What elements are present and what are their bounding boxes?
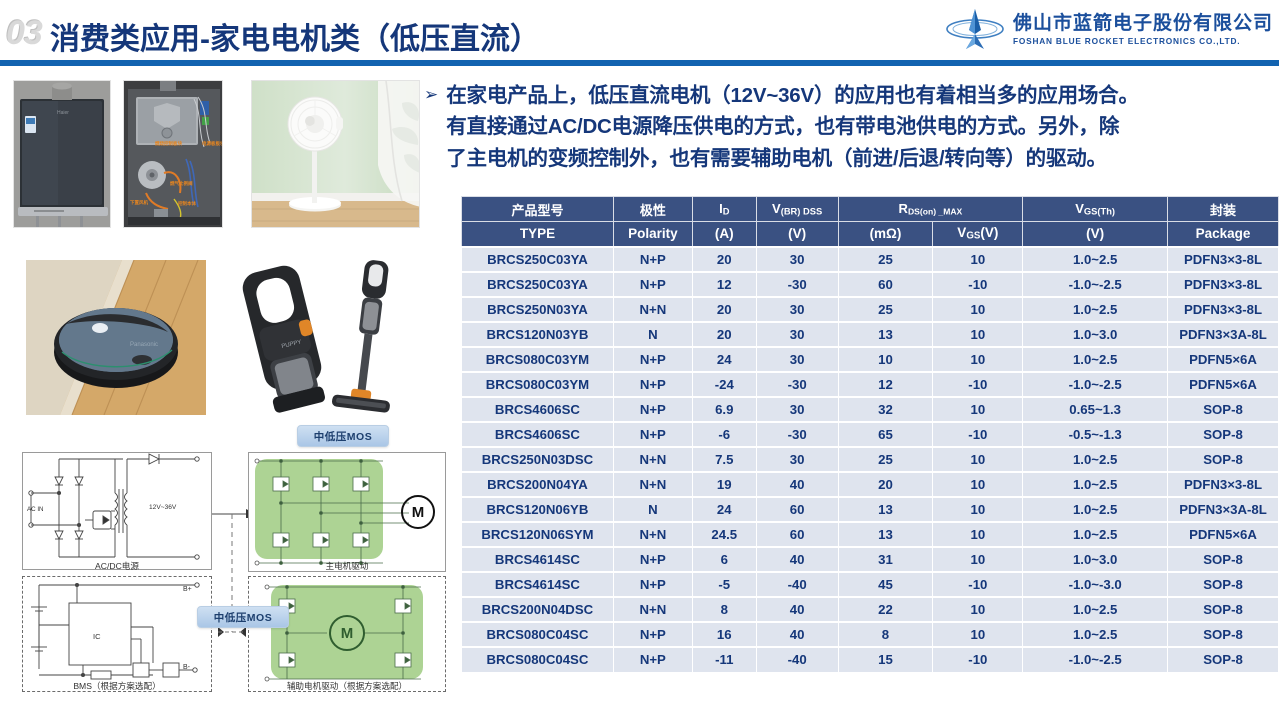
ic-label: IC [93, 632, 101, 641]
table-cell: 6.9 [692, 397, 756, 422]
table-cell: 45 [838, 572, 933, 597]
table-cell: 15 [838, 647, 933, 672]
table-body: BRCS250C03YAN+P203025101.0~2.5PDFN3×3-8L… [462, 247, 1279, 672]
table-cell: BRCS120N06SYM [462, 522, 614, 547]
table-row: BRCS080C04SCN+P16408101.0~2.5SOP-8 [462, 622, 1279, 647]
bullet-line-1: 在家电产品上，低压直流电机（12V~36V）的应用也有着相当多的应用场合。 [446, 80, 1139, 111]
svg-text:12V~36V: 12V~36V [149, 504, 177, 511]
table-cell: N+P [613, 347, 692, 372]
table-cell: 20 [692, 297, 756, 322]
table-row: BRCS120N06SYMN+N24.56013101.0~2.5PDFN5×6… [462, 522, 1279, 547]
table-cell: 1.0~3.0 [1023, 322, 1168, 347]
table-cell: 32 [838, 397, 933, 422]
table-cell: 13 [838, 522, 933, 547]
table-cell: 10 [933, 322, 1023, 347]
svg-text:燃烧控制板块: 燃烧控制板块 [155, 140, 182, 147]
table-cell: 65 [838, 422, 933, 447]
table-cell: N+P [613, 422, 692, 447]
table-cell: -1.0~-2.5 [1023, 372, 1168, 397]
table-row: BRCS4614SCN+P64031101.0~3.0SOP-8 [462, 547, 1279, 572]
section-number: 03 [6, 14, 42, 53]
table-cell: 10 [933, 622, 1023, 647]
main-motor-symbol: M [401, 495, 435, 529]
table-cell: SOP-8 [1168, 597, 1279, 622]
table-cell: 30 [756, 447, 838, 472]
table-cell: 40 [756, 597, 838, 622]
table-cell: 1.0~3.0 [1023, 547, 1168, 572]
table-cell: N+P [613, 572, 692, 597]
table-cell: N+P [613, 272, 692, 297]
table-cell: 24.5 [692, 522, 756, 547]
table-cell: -1.0~-2.5 [1023, 647, 1168, 672]
bms-box: IC B+ B- [22, 576, 212, 692]
table-cell: PDFN3×3-8L [1168, 297, 1279, 322]
table-cell: PDFN3×3A-8L [1168, 497, 1279, 522]
table-cell: 30 [756, 297, 838, 322]
table-cell: 10 [933, 347, 1023, 372]
table-cell: 12 [838, 372, 933, 397]
table-cell: N [613, 497, 692, 522]
rocket-logo-icon [945, 8, 1005, 52]
table-cell: 8 [838, 622, 933, 647]
table-cell: 10 [838, 347, 933, 372]
table-cell: 10 [933, 247, 1023, 272]
table-cell: -10 [933, 647, 1023, 672]
table-cell: BRCS250C03YA [462, 247, 614, 272]
table-cell: BRCS4606SC [462, 422, 614, 447]
logo-cn-name: 佛山市蓝箭电子股份有限公司 [1013, 14, 1273, 34]
table-cell: BRCS250N03YA [462, 297, 614, 322]
table-cell: 20 [692, 247, 756, 272]
table-cell: -11 [692, 647, 756, 672]
table-cell: 40 [756, 472, 838, 497]
table-cell: 24 [692, 347, 756, 372]
photo-robot-vacuum: Panasonic [26, 260, 206, 415]
table-cell: BRCS080C04SC [462, 622, 614, 647]
table-cell: BRCS200N04YA [462, 472, 614, 497]
table-cell: BRCS4614SC [462, 547, 614, 572]
table-cell: 13 [838, 322, 933, 347]
table-cell: 10 [933, 397, 1023, 422]
table-cell: PDFN3×3-8L [1168, 247, 1279, 272]
table-row: BRCS080C04SCN+P-11-4015-10-1.0~-2.5SOP-8 [462, 647, 1279, 672]
table-cell: -1.0~-3.0 [1023, 572, 1168, 597]
table-cell: N+P [613, 397, 692, 422]
page-title: 消费类应用-家电电机类（低压直流） [50, 14, 540, 58]
table-cell: 1.0~2.5 [1023, 522, 1168, 547]
table-row: BRCS250C03YAN+P12-3060-10-1.0~-2.5PDFN3×… [462, 272, 1279, 297]
table-cell: 10 [933, 297, 1023, 322]
table-cell: SOP-8 [1168, 447, 1279, 472]
table-cell: -10 [933, 422, 1023, 447]
logo-en-name: FOSHAN BLUE ROCKET ELECTRONICS CO.,LTD. [1013, 36, 1273, 46]
application-block-diagram: AC IN 12V~36V AC/DC电源 [12, 430, 452, 715]
table-cell: N [613, 322, 692, 347]
table-cell: N+N [613, 597, 692, 622]
table-cell: BRCS200N04DSC [462, 597, 614, 622]
table-cell: 10 [933, 547, 1023, 572]
company-logo: 佛山市蓝箭电子股份有限公司 FOSHAN BLUE ROCKET ELECTRO… [945, 6, 1273, 54]
table-cell: 25 [838, 247, 933, 272]
table-cell: 60 [756, 522, 838, 547]
table-cell: -24 [692, 372, 756, 397]
table-cell: 1.0~2.5 [1023, 597, 1168, 622]
table-cell: 1.0~2.5 [1023, 472, 1168, 497]
table-cell: N+N [613, 297, 692, 322]
table-cell: 30 [756, 397, 838, 422]
table-cell: N+P [613, 547, 692, 572]
table-cell: N+P [613, 647, 692, 672]
aux-motor-symbol: M [329, 615, 365, 651]
table-cell: 40 [756, 547, 838, 572]
col-rdson-unit: (mΩ) [838, 222, 933, 247]
table-cell: -6 [692, 422, 756, 447]
header-divider [0, 60, 1279, 66]
table-cell: BRCS120N06YB [462, 497, 614, 522]
main-motor-label: 主电机驱动 [248, 560, 446, 572]
table-cell: 60 [838, 272, 933, 297]
col-vgsth: VGS(Th) [1023, 197, 1168, 222]
table-row: BRCS250C03YAN+P203025101.0~2.5PDFN3×3-8L [462, 247, 1279, 272]
table-row: BRCS120N03YBN203013101.0~3.0PDFN3×3A-8L [462, 322, 1279, 347]
svg-text:B+: B+ [183, 586, 192, 593]
acdc-label: AC/DC电源 [22, 560, 212, 572]
table-cell: BRCS250N03DSC [462, 447, 614, 472]
table-cell: PDFN5×6A [1168, 347, 1279, 372]
table-cell: SOP-8 [1168, 547, 1279, 572]
table-row: BRCS080C03YMN+P-24-3012-10-1.0~-2.5PDFN5… [462, 372, 1279, 397]
table-cell: N+N [613, 447, 692, 472]
table-cell: 1.0~2.5 [1023, 622, 1168, 647]
table-cell: -1.0~-2.5 [1023, 272, 1168, 297]
table-cell: 31 [838, 547, 933, 572]
table-cell: -30 [756, 372, 838, 397]
mos-chip-top: 中低压MOS [297, 425, 389, 447]
table-cell: PDFN5×6A [1168, 372, 1279, 397]
table-cell: 19 [692, 472, 756, 497]
table-cell: N+P [613, 372, 692, 397]
col-id-unit: (A) [692, 222, 756, 247]
table-cell: SOP-8 [1168, 622, 1279, 647]
table-cell: 40 [756, 622, 838, 647]
table-row: BRCS080C03YMN+P243010101.0~2.5PDFN5×6A [462, 347, 1279, 372]
product-spec-table: 产品型号 极性 ID V(BR) DSS RDS(on) _MAX VGS(Th… [461, 196, 1279, 672]
col-vgs-unit: VGS(V) [933, 222, 1023, 247]
table-cell: SOP-8 [1168, 572, 1279, 597]
main-motor-drive-box: M [248, 452, 446, 572]
col-package-en: Package [1168, 222, 1279, 247]
table-row: BRCS4606SCN+P6.93032100.65~1.3SOP-8 [462, 397, 1279, 422]
table-cell: 22 [838, 597, 933, 622]
photo-water-heater-internals: 燃烧控制板块 电源板板块 燃气比例阀 下置风机 控制本体 [123, 80, 223, 228]
svg-text:B-: B- [183, 664, 191, 671]
table-row: BRCS120N06YBN246013101.0~2.5PDFN3×3A-8L [462, 497, 1279, 522]
acdc-power-box: AC IN 12V~36V [22, 452, 212, 570]
table-row: BRCS4606SCN+P-6-3065-10-0.5~-1.3SOP-8 [462, 422, 1279, 447]
table-cell: BRCS120N03YB [462, 322, 614, 347]
table-cell: 7.5 [692, 447, 756, 472]
table-cell: 16 [692, 622, 756, 647]
table-cell: 6 [692, 547, 756, 572]
table-cell: 1.0~2.5 [1023, 297, 1168, 322]
table-cell: -30 [756, 422, 838, 447]
table-cell: -40 [756, 572, 838, 597]
table-cell: -10 [933, 272, 1023, 297]
col-vbrdss-unit: (V) [756, 222, 838, 247]
col-rdson: RDS(on) _MAX [838, 197, 1023, 222]
table-cell: 10 [933, 497, 1023, 522]
aux-motor-drive-box: M [248, 576, 446, 692]
table-row: BRCS200N04DSCN+N84022101.0~2.5SOP-8 [462, 597, 1279, 622]
table-cell: -5 [692, 572, 756, 597]
col-vgsth-unit: (V) [1023, 222, 1168, 247]
table-cell: -10 [933, 572, 1023, 597]
table-cell: 10 [933, 472, 1023, 497]
bullet-line-3: 了主电机的变频控制外，也有需要辅助电机（前进/后退/转向等）的驱动。 [446, 143, 1139, 174]
table-cell: BRCS080C03YM [462, 372, 614, 397]
table-cell: 1.0~2.5 [1023, 447, 1168, 472]
photo-stick-vacuum: PUPPY [228, 258, 420, 418]
mos-chip-mid: 中低压MOS [197, 606, 289, 628]
table-cell: N+N [613, 522, 692, 547]
table-cell: 1.0~2.5 [1023, 247, 1168, 272]
table-cell: BRCS4606SC [462, 397, 614, 422]
table-cell: 0.65~1.3 [1023, 397, 1168, 422]
table-row: BRCS250N03YAN+N203025101.0~2.5PDFN3×3-8L [462, 297, 1279, 322]
table-row: BRCS250N03DSCN+N7.53025101.0~2.5SOP-8 [462, 447, 1279, 472]
table-cell: SOP-8 [1168, 647, 1279, 672]
table-cell: PDFN3×3-8L [1168, 472, 1279, 497]
table-cell: 10 [933, 447, 1023, 472]
col-polarity-cn: 极性 [613, 197, 692, 222]
svg-text:AC IN: AC IN [27, 506, 44, 513]
table-cell: 10 [933, 522, 1023, 547]
table-cell: BRCS080C03YM [462, 347, 614, 372]
svg-text:Panasonic: Panasonic [130, 342, 158, 348]
svg-text:Haier: Haier [57, 110, 69, 116]
table-header-row-1: 产品型号 极性 ID V(BR) DSS RDS(on) _MAX VGS(Th… [462, 197, 1279, 222]
table-cell: -0.5~-1.3 [1023, 422, 1168, 447]
table-cell: N+P [613, 247, 692, 272]
table-cell: -40 [756, 647, 838, 672]
table-cell: SOP-8 [1168, 397, 1279, 422]
table-cell: PDFN5×6A [1168, 522, 1279, 547]
table-cell: 8 [692, 597, 756, 622]
slide-header: 03 消费类应用-家电电机类（低压直流） 佛山市蓝箭电子股份有限公司 FOSHA… [0, 0, 1279, 68]
table-cell: PDFN3×3A-8L [1168, 322, 1279, 347]
table-cell: BRCS4614SC [462, 572, 614, 597]
table-cell: 24 [692, 497, 756, 522]
svg-text:电源板板块: 电源板板块 [202, 140, 223, 147]
table-cell: 13 [838, 497, 933, 522]
col-vbrdss: V(BR) DSS [756, 197, 838, 222]
table-row: BRCS4614SCN+P-5-4045-10-1.0~-3.0SOP-8 [462, 572, 1279, 597]
table-cell: 60 [756, 497, 838, 522]
svg-text:燃气比例阀: 燃气比例阀 [170, 180, 193, 187]
col-polarity-en: Polarity [613, 222, 692, 247]
table-cell: BRCS080C04SC [462, 647, 614, 672]
table-cell: 1.0~2.5 [1023, 497, 1168, 522]
table-cell: PDFN3×3-8L [1168, 272, 1279, 297]
bullet-arrow-icon: ➢ [424, 80, 438, 174]
col-type-cn: 产品型号 [462, 197, 614, 222]
table-cell: 30 [756, 247, 838, 272]
col-type-en: TYPE [462, 222, 614, 247]
bms-label: BMS（根据方案选配） [22, 680, 212, 692]
photo-stand-fan [251, 80, 420, 228]
table-header-row-2: TYPE Polarity (A) (V) (mΩ) VGS(V) (V) Pa… [462, 222, 1279, 247]
table-cell: 1.0~2.5 [1023, 347, 1168, 372]
svg-text:下置风机: 下置风机 [130, 199, 148, 206]
table-cell: SOP-8 [1168, 422, 1279, 447]
table-cell: N+N [613, 472, 692, 497]
table-cell: 25 [838, 447, 933, 472]
table-cell: 25 [838, 297, 933, 322]
table-row: BRCS200N04YAN+N194020101.0~2.5PDFN3×3-8L [462, 472, 1279, 497]
table-cell: 30 [756, 322, 838, 347]
aux-motor-label: 辅助电机驱动（根据方案选配） [248, 680, 446, 692]
col-package-cn: 封装 [1168, 197, 1279, 222]
bullet-line-2: 有直接通过AC/DC电源降压供电的方式，也有带电池供电的方式。另外，除 [446, 111, 1139, 142]
table-cell: 10 [933, 597, 1023, 622]
table-cell: BRCS250C03YA [462, 272, 614, 297]
table-cell: -30 [756, 272, 838, 297]
photo-water-heater: Haier [13, 80, 111, 228]
col-id: ID [692, 197, 756, 222]
svg-text:控制本体: 控制本体 [178, 200, 196, 207]
slide-root: 03 消费类应用-家电电机类（低压直流） 佛山市蓝箭电子股份有限公司 FOSHA… [0, 0, 1279, 720]
table-cell: 20 [838, 472, 933, 497]
table-cell: N+P [613, 622, 692, 647]
bullet-paragraph: ➢ 在家电产品上，低压直流电机（12V~36V）的应用也有着相当多的应用场合。 … [424, 80, 1279, 174]
table-cell: 12 [692, 272, 756, 297]
table-cell: 30 [756, 347, 838, 372]
table-cell: 20 [692, 322, 756, 347]
table-cell: -10 [933, 372, 1023, 397]
